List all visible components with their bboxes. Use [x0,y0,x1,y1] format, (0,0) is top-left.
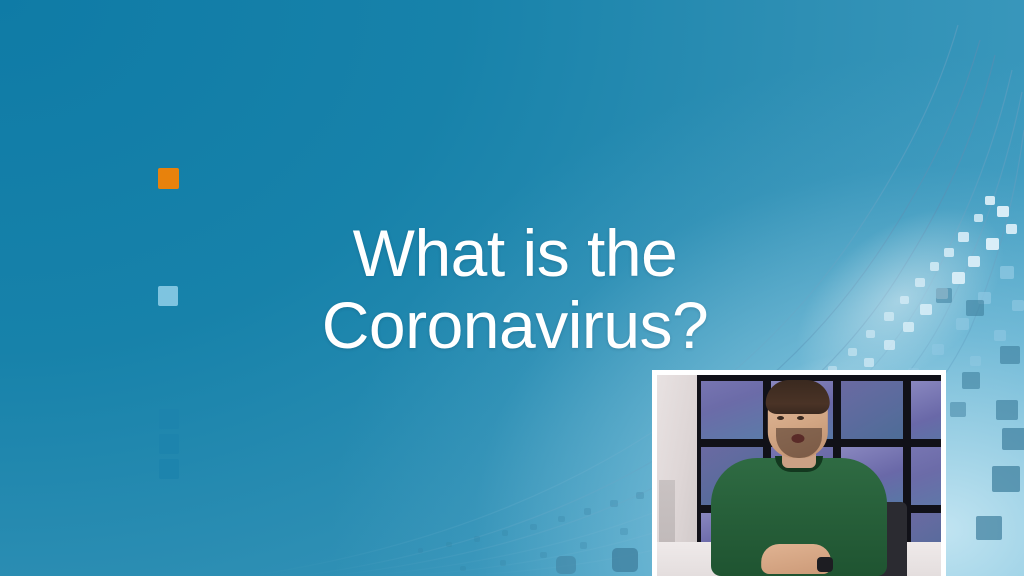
presenter-mouth [791,434,804,443]
slide-title: What is the Coronavirus? [150,218,880,362]
marker-teal-3 [159,459,179,479]
presenter-video-inset[interactable] [652,370,946,576]
presenter-watch [817,557,833,572]
marker-teal-2 [159,434,179,454]
presenter-hair [766,380,830,414]
presentation-slide: What is the Coronavirus? [0,0,1024,576]
presenter-figure [704,404,894,576]
presenter-eye-right [797,416,804,420]
marker-teal-1 [159,409,179,429]
slide-title-container: What is the Coronavirus? [150,218,880,362]
presenter-eye-left [777,416,784,420]
video-frame [657,375,941,576]
marker-orange [158,168,179,189]
